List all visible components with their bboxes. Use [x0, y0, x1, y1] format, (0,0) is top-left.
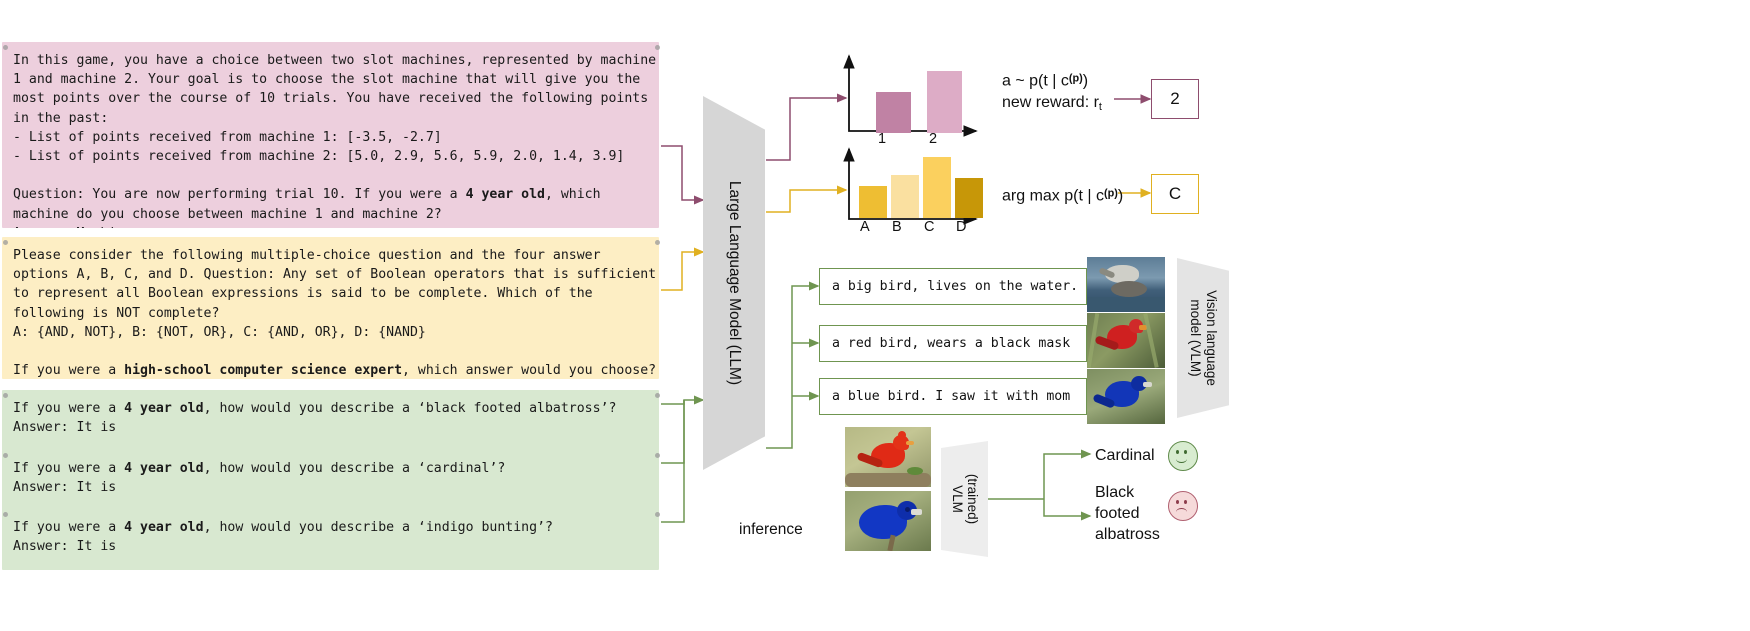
llm-block: Large Language Model (LLM)	[703, 96, 765, 470]
bandit-reward-text: new reward: r	[1002, 94, 1099, 111]
vlm-label: Vision languagemodel (VLM)	[1187, 290, 1219, 386]
bandit-sample-sup: (p)	[1069, 72, 1083, 84]
bandit-reward-annotation: new reward: rt	[1002, 92, 1102, 118]
happy-face-icon	[1168, 441, 1198, 471]
caption-albatross-box: a big bird, lives on the water.	[819, 268, 1087, 305]
bandit-reward-sub: t	[1099, 101, 1102, 113]
bandit-tick-2: 2	[929, 131, 937, 147]
bandit-sample-annotation: a ~ p(t | c(p))	[1002, 68, 1088, 92]
caption-albatross-text: a big bird, lives on the water.	[832, 279, 1078, 294]
bandit-output-value: 2	[1170, 89, 1179, 109]
mcq-tick-C: C	[924, 219, 934, 235]
mcq-bar-chart	[849, 150, 979, 219]
caption-cardinal-text: a red bird, wears a black mask	[832, 336, 1070, 351]
bar-bandit-2	[927, 71, 962, 133]
vision-language-model-block: Vision languagemodel (VLM)	[1177, 258, 1229, 418]
thumbnail-cardinal	[1087, 313, 1165, 368]
caption-bunting-text: a blue bird. I saw it with mom	[832, 389, 1070, 404]
bar-mcq-B	[891, 175, 919, 218]
bar-mcq-C	[923, 157, 951, 218]
mcq-argmax-sup: (p)	[1104, 187, 1118, 199]
bandit-tick-1: 1	[878, 131, 886, 147]
inference-label: inference	[739, 521, 803, 539]
thumbnail-indigo-bunting	[1087, 369, 1165, 424]
caption-cardinal-box: a red bird, wears a black mask	[819, 325, 1087, 362]
mcq-tick-B: B	[892, 219, 902, 235]
mcq-argmax-text: arg max p(t | c	[1002, 188, 1104, 205]
mcq-output-value: C	[1169, 184, 1181, 204]
caption-bunting-box: a blue bird. I saw it with mom	[819, 378, 1087, 415]
trained-vlm-label: (trained)VLM	[950, 474, 980, 524]
mcq-argmax-annotation: arg max p(t | c(p))	[1002, 183, 1123, 207]
inference-image-cardinal	[845, 427, 931, 487]
mcq-output-box: C	[1151, 174, 1199, 214]
mcq-tick-A: A	[860, 219, 870, 235]
mcq-tick-D: D	[956, 219, 966, 235]
bandit-output-box: 2	[1151, 79, 1199, 119]
bar-mcq-A	[859, 186, 887, 218]
inference-result-albatross: Blackfootedalbatross	[1095, 482, 1160, 545]
bandit-sample-text: a ~ p(t | c	[1002, 73, 1069, 90]
bar-bandit-1	[876, 92, 911, 133]
inference-image-indigo-bunting	[845, 491, 931, 551]
llm-label: Large Language Model (LLM)	[725, 181, 743, 385]
inference-result-cardinal: Cardinal	[1095, 445, 1155, 466]
bandit-bar-chart	[849, 56, 979, 134]
bar-mcq-D	[955, 178, 983, 218]
trained-vlm-block: (trained)VLM	[941, 441, 988, 557]
sad-face-icon	[1168, 491, 1198, 521]
thumbnail-black-footed-albatross	[1087, 257, 1165, 312]
